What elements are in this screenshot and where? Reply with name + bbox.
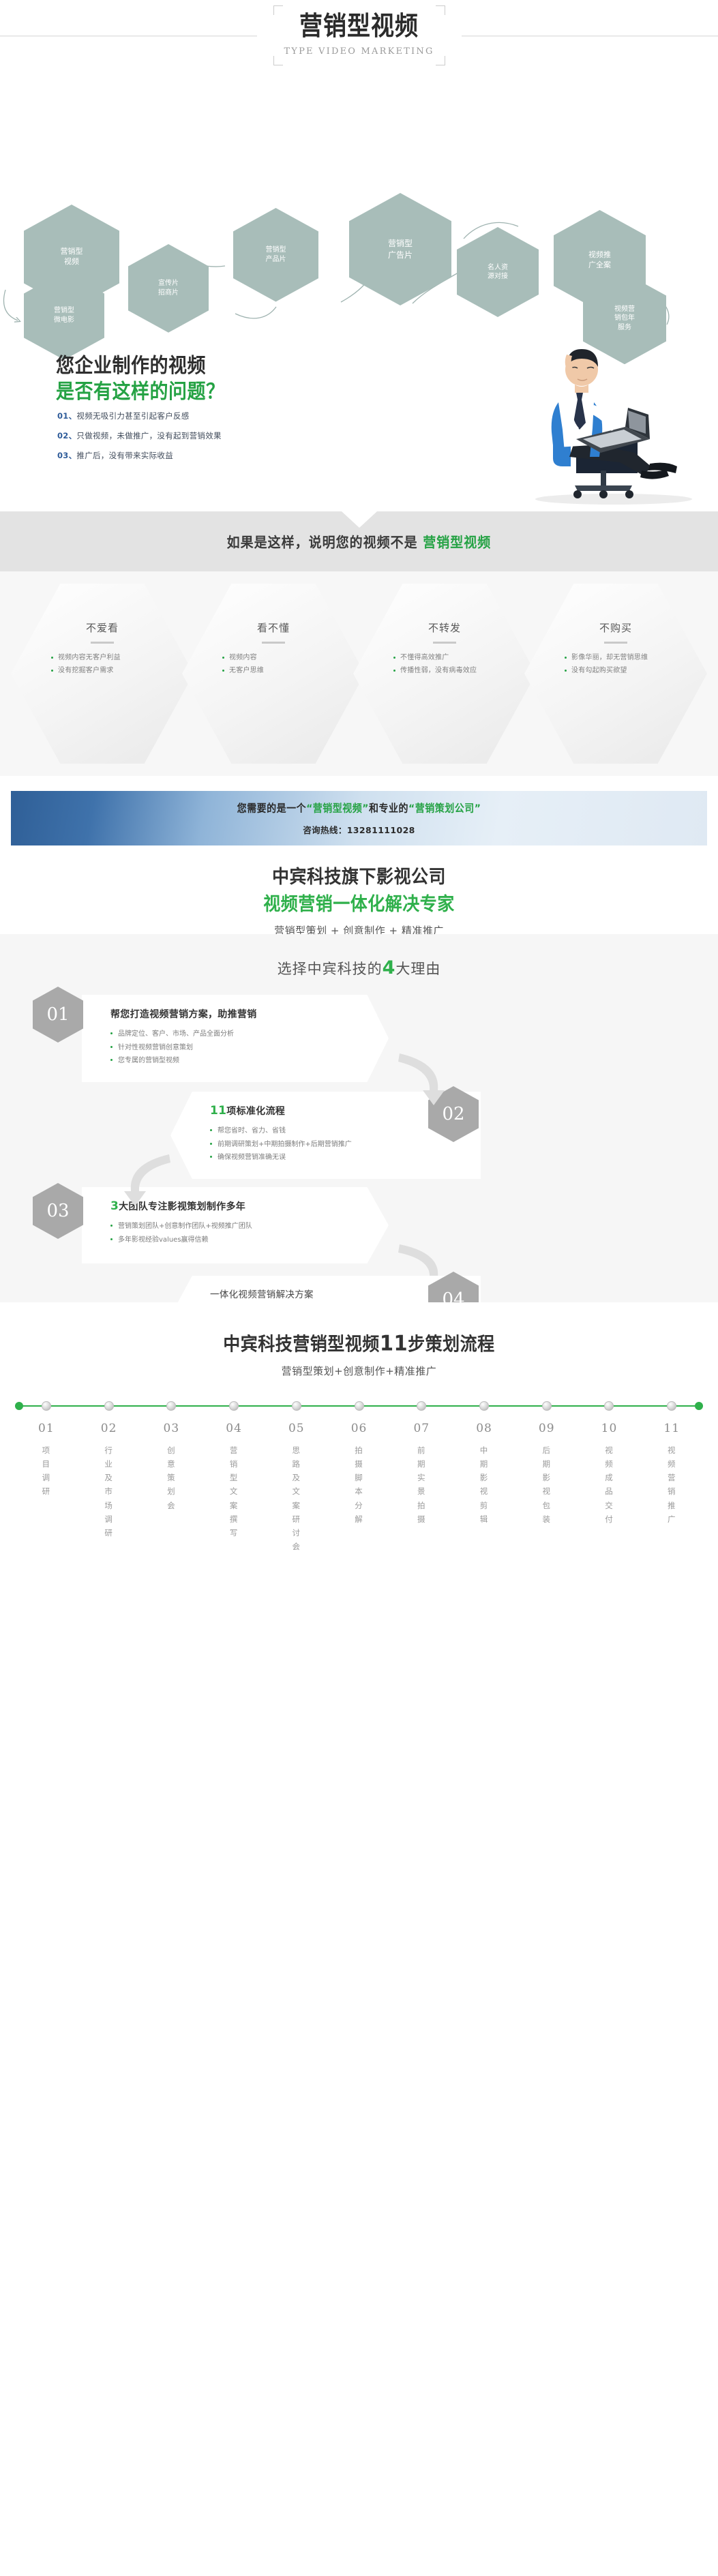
timeline-node-dot[interactable] [542, 1401, 552, 1411]
problem-hex-rule [433, 642, 456, 644]
timeline-step-label: 中期影视剪辑 [453, 1443, 515, 1526]
corner-bracket-top-right [436, 5, 445, 15]
corner-bracket-bottom-right [436, 56, 445, 65]
timeline-step-label: 视频成品交付 [578, 1443, 641, 1526]
timeline-step-label: 营销型文案撰写 [203, 1443, 265, 1540]
problem-hex-title: 不转发 [428, 620, 461, 635]
timeline-node-dot[interactable] [604, 1401, 614, 1411]
hexmap-node[interactable]: 宣传片招商片 [128, 244, 209, 333]
timeline-step[interactable]: 06拍摄脚本分解 [328, 1422, 391, 1553]
problem-hex-bullets: 视频内容无客户利益没有挖掘客户需求 [51, 652, 153, 677]
reasons-title: 选择中宾科技的4大理由 [0, 934, 718, 978]
timeline-step-label: 思路及文案研讨会 [265, 1443, 328, 1553]
problem-item-number: 01、 [57, 411, 76, 421]
hexmap-node-label: 宣传片招商片 [158, 279, 179, 297]
timeline-step[interactable]: 10视频成品交付 [578, 1422, 641, 1553]
timeline-cap-end [695, 1402, 703, 1410]
blue-line1-b: 和专业的 [369, 803, 408, 815]
hexmap-node-label: 营销型视频 [61, 247, 83, 267]
callout-notch [342, 511, 377, 528]
hexmap-node-label: 视频营销包年服务 [614, 305, 635, 333]
blue-cta-banner: 您需要的是一个“营销型视频”和专业的“营销策划公司” 咨询热线：13281111… [11, 791, 707, 845]
reasons-steps: 帮您打造视频营销方案，助推营销品牌定位、客户、市场、产品全面分析针对性视频营销创… [0, 983, 718, 1276]
problem-hex-rule [262, 642, 285, 644]
callout-text-highlight: 营销型视频 [423, 535, 491, 551]
timeline-step[interactable]: 08中期影视剪辑 [453, 1422, 515, 1553]
timeline-step-number: 09 [515, 1422, 578, 1435]
problem-hex-bullets: 不懂得高效推广传播性弱，没有病毒效应 [393, 652, 496, 677]
problem-hex-bullet: 没有挖掘客户需求 [51, 665, 153, 678]
timeline-step[interactable]: 01项目调研 [15, 1422, 78, 1553]
problem-hex-bullets: 影像华丽，却无营销思维没有勾起购买欲望 [565, 652, 667, 677]
hexmap-node[interactable]: 名人资源对接 [457, 227, 539, 317]
timeline-columns: 01项目调研02行业及市场调研03创意策划会04营销型文案撰写05思路及文案研讨… [15, 1411, 703, 1553]
problem-hex-bullet: 影像华丽，却无营销思维 [565, 652, 667, 665]
problem-hex-title: 不爱看 [86, 620, 119, 635]
problem-hex-content: 不转发不懂得高效推广传播性弱，没有病毒效应 [353, 584, 536, 764]
blue-line1-quote1: “营销型视频” [306, 803, 369, 815]
problem-section: 您企业制作的视频 是否有这样的问题？ 01、视频无吸引力甚至引起客户反感02、只… [0, 334, 718, 511]
problem-item-number: 02、 [57, 431, 76, 440]
problem-hex-bullets: 视频内容无客户思维 [222, 652, 325, 677]
timeline-step-number: 08 [453, 1422, 515, 1435]
problem-hex-title: 看不懂 [257, 620, 290, 635]
reasons-title-number: 4 [383, 957, 396, 978]
timeline-step[interactable]: 07前期实景拍摄 [390, 1422, 453, 1553]
timeline-step[interactable]: 09后期影视包装 [515, 1422, 578, 1553]
four-problems-hexes: 不爱看视频内容无客户利益没有挖掘客户需求看不懂视频内容无客户思维不转发不懂得高效… [11, 584, 707, 764]
problem-list-item: 02、只做视频，未做推广，没有起到营销效果 [57, 430, 222, 441]
problem-item-number: 03、 [57, 451, 76, 460]
callout-band: 如果是这样，说明您的视频不是 营销型视频 [0, 511, 718, 571]
timeline-step[interactable]: 02行业及市场调研 [78, 1422, 140, 1553]
title-frame: 营销型视频 TYPE VIDEO MARKETING [257, 5, 462, 65]
timeline-step-number: 05 [265, 1422, 328, 1435]
hexmap-node[interactable]: 营销型广告片 [349, 193, 451, 305]
timeline-title-b: 步策划流程 [408, 1334, 495, 1355]
timeline-title: 中宾科技营销型视频11步策划流程 [0, 1300, 718, 1356]
timeline-step-number: 07 [390, 1422, 453, 1435]
problem-hex-bullet: 视频内容无客户利益 [51, 652, 153, 665]
service-hexagon-map: 营销型视频营销型微电影宣传片招商片营销型产品片营销型广告片名人资源对接视频推广全… [0, 170, 718, 334]
corner-bracket-bottom-left [273, 56, 283, 65]
problem-hex-bullet: 没有勾起购买欲望 [565, 665, 667, 678]
blue-banner-line1: 您需要的是一个“营销型视频”和专业的“营销策划公司” [237, 800, 481, 815]
timeline-step-label: 项目调研 [15, 1443, 78, 1499]
timeline-title-a: 中宾科技营销型视频 [223, 1334, 380, 1355]
problem-hex-content: 不爱看视频内容无客户利益没有挖掘客户需求 [11, 584, 194, 764]
problem-hex-bullet: 无客户思维 [222, 665, 325, 678]
hexmap-node-label: 营销型微电影 [54, 306, 74, 325]
problem-hex-rule [604, 642, 627, 644]
timeline-node-dot[interactable] [355, 1401, 364, 1411]
timeline-step-number: 02 [78, 1422, 140, 1435]
problem-hex-bullet: 传播性弱，没有病毒效应 [393, 665, 496, 678]
hexmap-node-label: 营销型广告片 [388, 238, 413, 260]
problem-list-item: 03、推广后，没有带来实际收益 [57, 450, 222, 461]
corner-bracket-top-left [273, 5, 283, 15]
problem-hex-title: 不购买 [599, 620, 632, 635]
timeline-step[interactable]: 11视频营销推广 [640, 1422, 703, 1553]
company-line2: 视频营销一体化解决专家 [0, 890, 718, 916]
reasons-title-b: 大理由 [395, 961, 440, 977]
timeline-section: 中宾科技营销型视频11步策划流程 营销型策划+创意制作+精准推广 01项目调研0… [0, 1302, 718, 1602]
timeline-step-number: 04 [203, 1422, 265, 1435]
timeline-subtitle: 营销型策划+创意制作+精准推广 [0, 1364, 718, 1378]
timeline-node-dot[interactable] [292, 1401, 301, 1411]
timeline-step-number: 06 [328, 1422, 391, 1435]
timeline-node-dot[interactable] [417, 1401, 426, 1411]
timeline-node-dot[interactable] [229, 1401, 239, 1411]
four-problems-section: 不爱看视频内容无客户利益没有挖掘客户需求看不懂视频内容无客户思维不转发不懂得高效… [0, 571, 718, 776]
problem-heading-line2: 是否有这样的问题？ [56, 375, 225, 404]
timeline-node-dot[interactable] [104, 1401, 114, 1411]
reason-connector-arrows [0, 983, 718, 1276]
timeline-step-label: 前期实景拍摄 [390, 1443, 453, 1526]
problem-hex-content: 看不懂视频内容无客户思维 [182, 584, 365, 764]
timeline-node-dot[interactable] [479, 1401, 489, 1411]
problem-list: 01、视频无吸引力甚至引起客户反感02、只做视频，未做推广，没有起到营销效果03… [57, 410, 222, 470]
hexmap-node-label: 视频推广全案 [588, 250, 611, 271]
timeline-step-number: 10 [578, 1422, 641, 1435]
problem-heading-line1: 您企业制作的视频 [56, 349, 206, 378]
problem-item-text: 推广后，没有带来实际收益 [76, 451, 173, 460]
reasons-title-a: 选择中宾科技的 [278, 961, 383, 977]
problem-hex-bullet: 不懂得高效推广 [393, 652, 496, 665]
page-title: 营销型视频 [299, 13, 419, 42]
timeline-step-label: 创意策划会 [140, 1443, 203, 1512]
problem-list-item: 01、视频无吸引力甚至引起客户反感 [57, 410, 222, 421]
problem-hex-content: 不购买影像华丽，却无营销思维没有勾起购买欲望 [524, 584, 707, 764]
company-line1: 中宾科技旗下影视公司 [0, 863, 718, 889]
hexmap-node-label: 名人资源对接 [488, 263, 508, 282]
callout-text-plain: 如果是这样，说明您的视频不是 [227, 535, 423, 551]
page-subtitle: TYPE VIDEO MARKETING [284, 46, 434, 57]
timeline-step[interactable]: 05思路及文案研讨会 [265, 1422, 328, 1553]
timeline-step-number: 03 [140, 1422, 203, 1435]
timeline-step[interactable]: 03创意策划会 [140, 1422, 203, 1553]
hotline-text: 咨询热线：13281111028 [303, 823, 415, 836]
timeline-node-dot[interactable] [42, 1401, 51, 1411]
timeline-step-label: 行业及市场调研 [78, 1443, 140, 1540]
company-headline-section: 中宾科技旗下影视公司 视频营销一体化解决专家 营销型策划 + 创意制作 + 精准… [0, 845, 718, 934]
four-reasons-section: 选择中宾科技的4大理由 帮您打造视频营销方案，助推营销品牌定位、客户、市场、产品… [0, 934, 718, 1302]
timeline-step-number: 11 [640, 1422, 703, 1435]
timeline-rail [15, 1401, 703, 1411]
timeline-node-dot[interactable] [166, 1401, 176, 1411]
businessman-illustration [474, 337, 706, 507]
problem-item-text: 视频无吸引力甚至引起客户反感 [76, 411, 189, 421]
timeline-step-number: 01 [15, 1422, 78, 1435]
timeline-step-label: 后期影视包装 [515, 1443, 578, 1526]
timeline-step-label: 视频营销推广 [640, 1443, 703, 1526]
timeline-step-label: 拍摄脚本分解 [328, 1443, 391, 1526]
blue-line1-quote2: “营销策划公司” [408, 803, 481, 815]
page-header: 营销型视频 TYPE VIDEO MARKETING [0, 0, 718, 170]
timeline-title-number: 11 [380, 1330, 408, 1356]
hexmap-node[interactable]: 营销型产品片 [233, 208, 318, 302]
timeline-step[interactable]: 04营销型文案撰写 [203, 1422, 265, 1553]
problem-hex-rule [91, 642, 114, 644]
hexmap-node-label: 营销型产品片 [266, 245, 286, 264]
callout-text: 如果是这样，说明您的视频不是 营销型视频 [227, 531, 492, 551]
timeline-node-dot[interactable] [667, 1401, 676, 1411]
problem-item-text: 只做视频，未做推广，没有起到营销效果 [76, 431, 221, 440]
problem-hex-bullet: 视频内容 [222, 652, 325, 665]
blue-line1-a: 您需要的是一个 [237, 803, 307, 815]
timeline-cap-start [15, 1402, 23, 1410]
